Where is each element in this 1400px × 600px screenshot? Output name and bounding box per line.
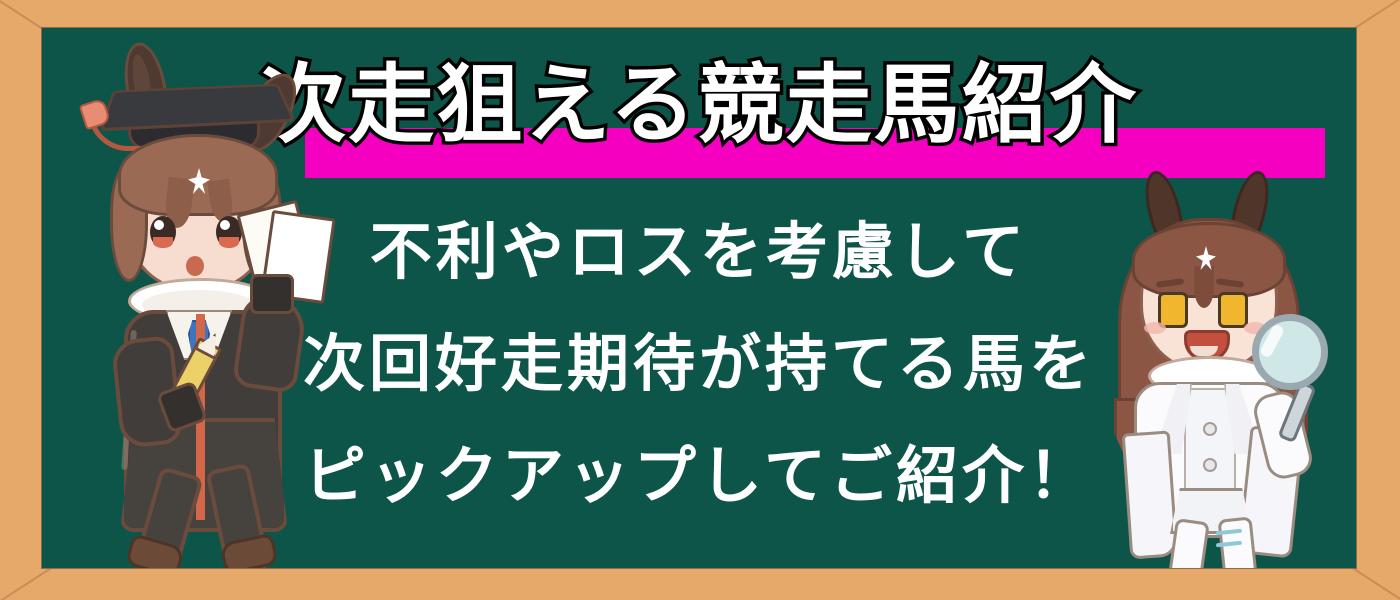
blush-left-icon <box>1144 322 1166 334</box>
lab-coat-flap-left-icon <box>1122 430 1179 559</box>
vest-button-bottom-icon <box>1203 458 1217 472</box>
banner: 次走狙える競走馬紹介 不利やロスを考慮して 次回好走期待が持てる馬を ピックアッ… <box>0 0 1400 600</box>
vest-button-top-icon <box>1203 422 1217 436</box>
hand-raised-icon <box>250 274 294 314</box>
character-graduate-horse-girl <box>70 38 330 568</box>
hair-spike-icon <box>1194 266 1214 308</box>
character-researcher-horse-girl <box>1092 170 1342 568</box>
eye-right-highlight-icon <box>220 220 230 230</box>
eye-right-lower-icon <box>219 237 239 248</box>
mouth-icon <box>186 256 204 276</box>
eye-left-lower-icon <box>153 237 173 248</box>
chalkboard: 次走狙える競走馬紹介 不利やロスを考慮して 次回好走期待が持てる馬を ピックアッ… <box>42 28 1356 568</box>
frame-corner-seam-top-right <box>1349 0 1400 33</box>
frame-corner-seam-bottom-right <box>1350 566 1400 600</box>
eye-left-highlight-icon <box>154 220 164 230</box>
eye-left-icon <box>1158 292 1188 328</box>
eye-right-icon <box>1218 292 1248 328</box>
frame-corner-seam-bottom-left <box>0 567 51 600</box>
